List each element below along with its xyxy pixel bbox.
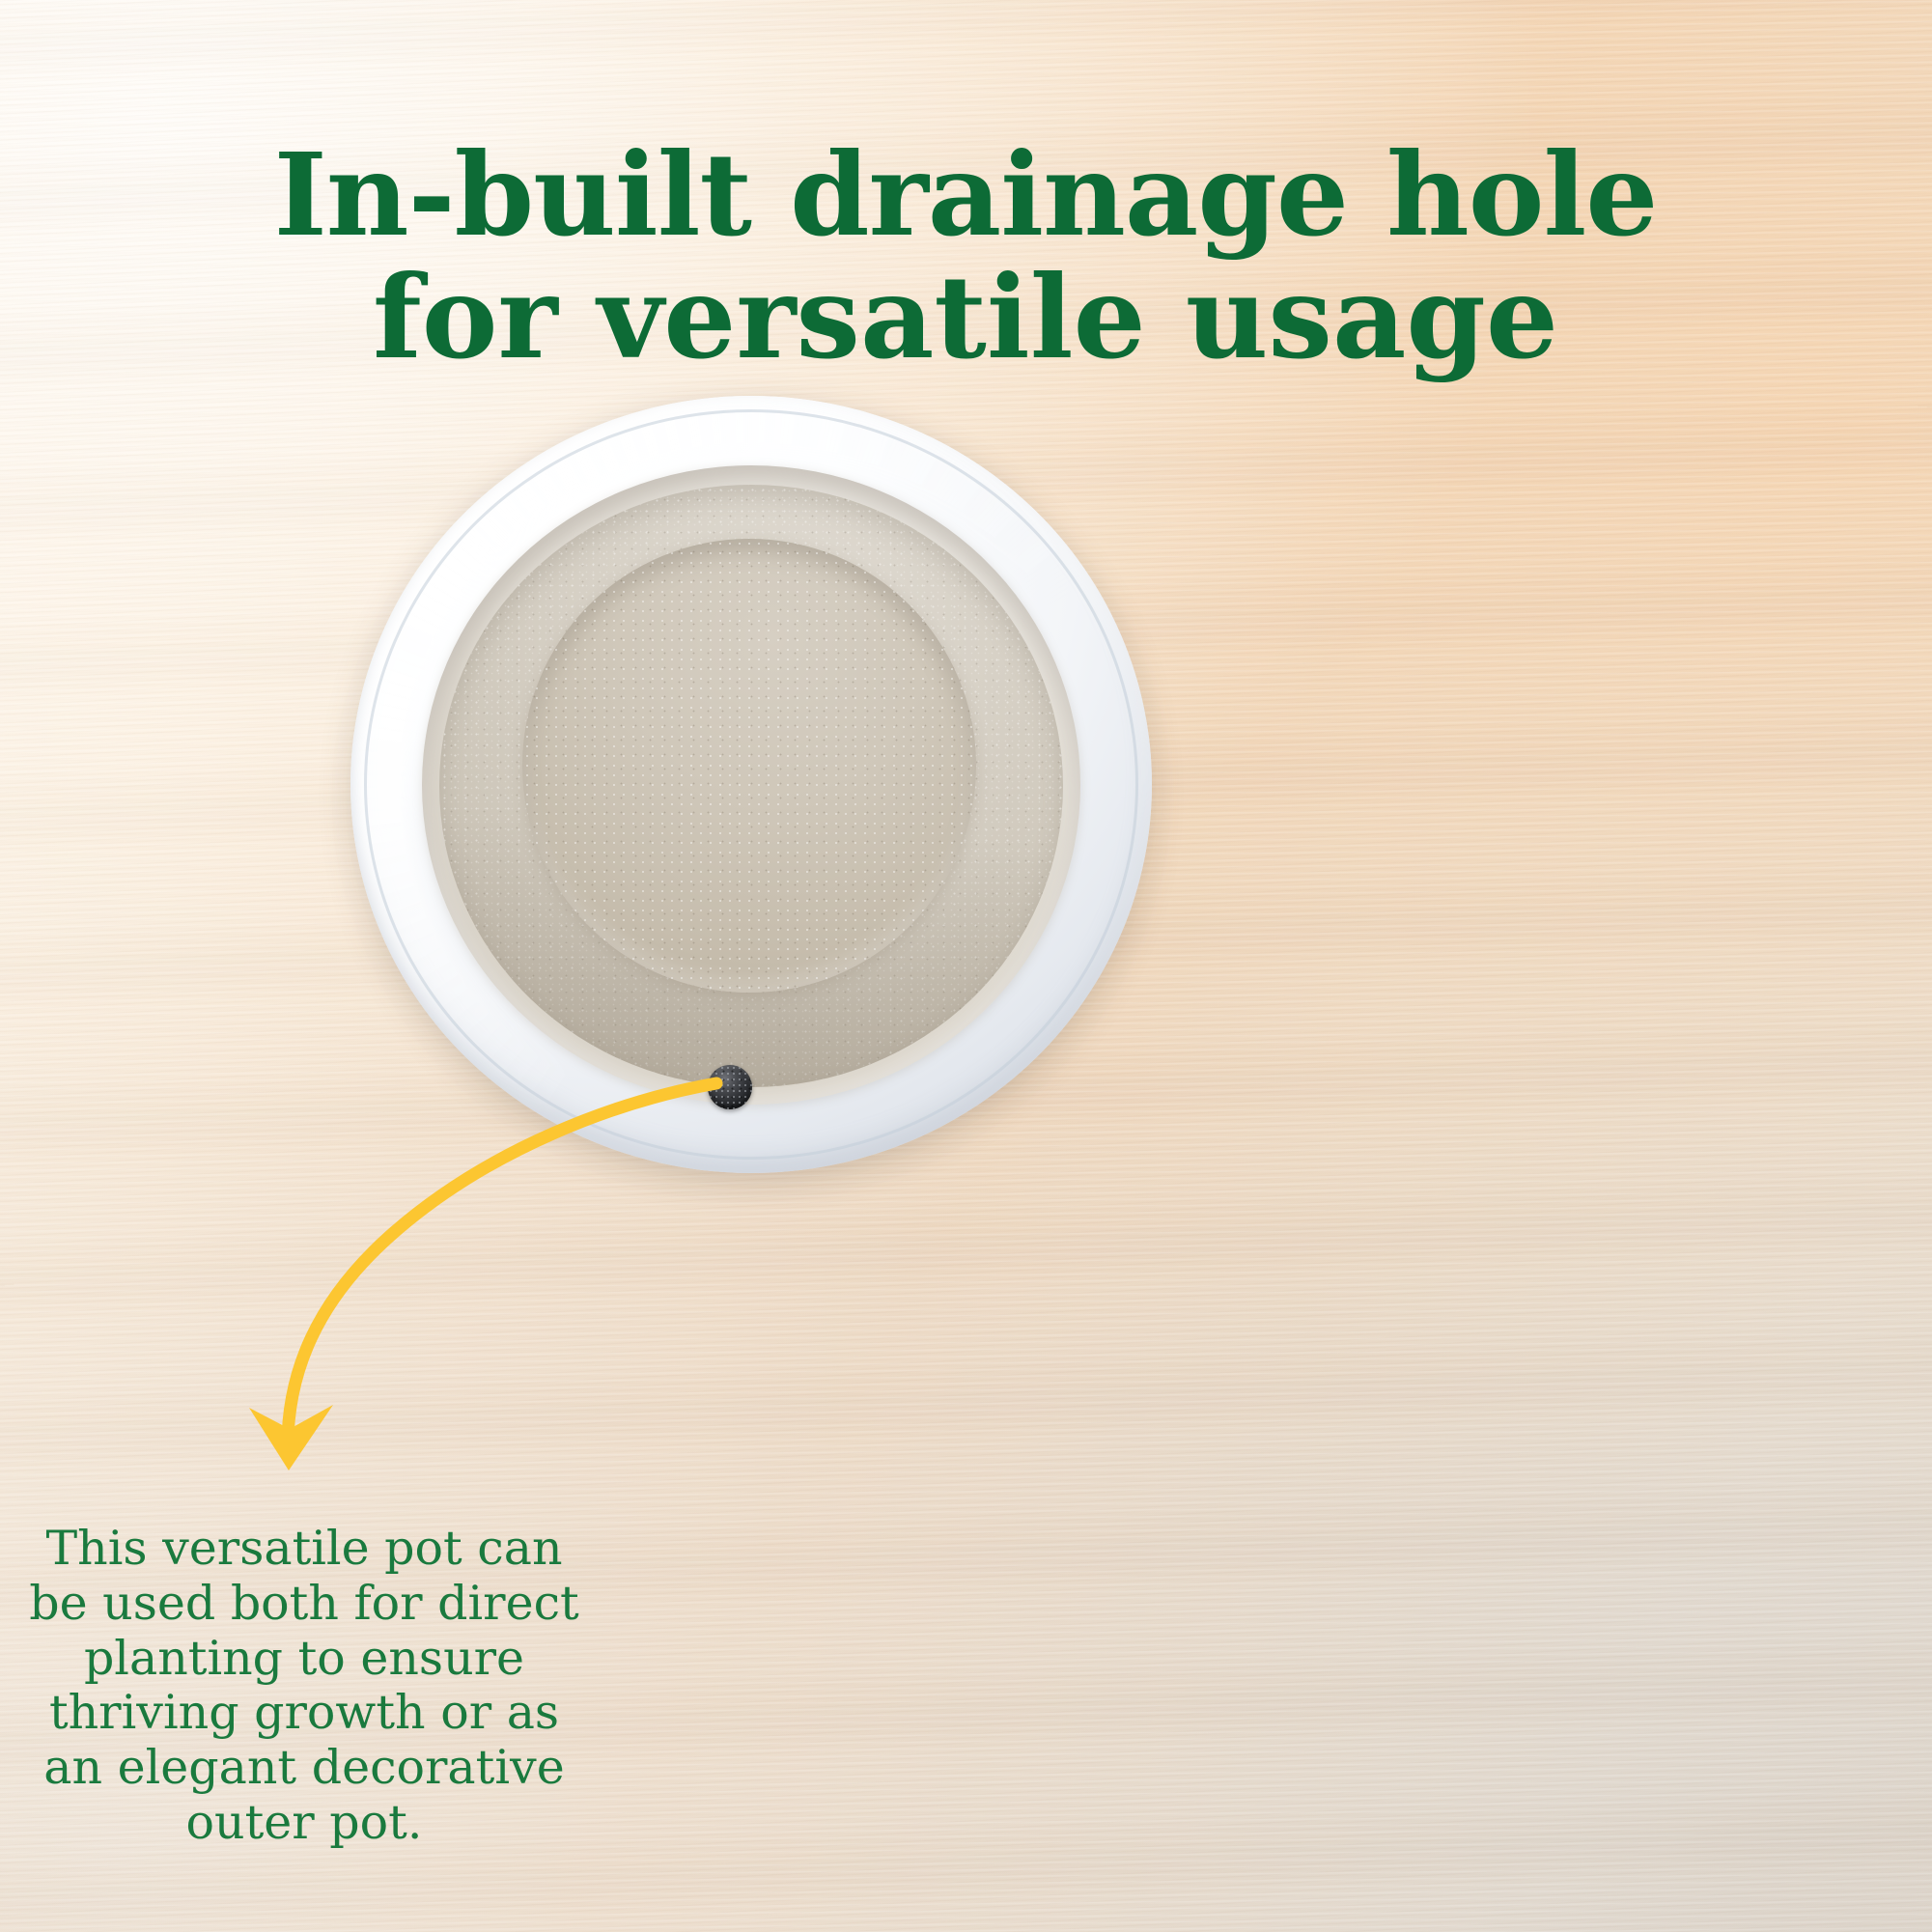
caption-line-5: an elegant decorative bbox=[29, 1741, 579, 1796]
headline: In-built drainage hole for versatile usa… bbox=[145, 133, 1786, 379]
caption-line-1: This versatile pot can bbox=[29, 1522, 579, 1577]
caption-text: This versatile pot can be used both for … bbox=[29, 1522, 579, 1851]
caption-line-6: outer pot. bbox=[29, 1796, 579, 1851]
headline-line-2: for versatile usage bbox=[145, 256, 1786, 378]
drainage-hole bbox=[708, 1065, 752, 1109]
plant-pot bbox=[350, 396, 1152, 1173]
caption-line-3: planting to ensure bbox=[29, 1632, 579, 1687]
headline-line-1: In-built drainage hole bbox=[145, 133, 1786, 256]
caption-line-2: be used both for direct bbox=[29, 1577, 579, 1632]
caption-line-4: thriving growth or as bbox=[29, 1686, 579, 1741]
pot-base-speckle bbox=[522, 539, 976, 993]
product-feature-graphic: In-built drainage hole for versatile usa… bbox=[0, 0, 1932, 1932]
